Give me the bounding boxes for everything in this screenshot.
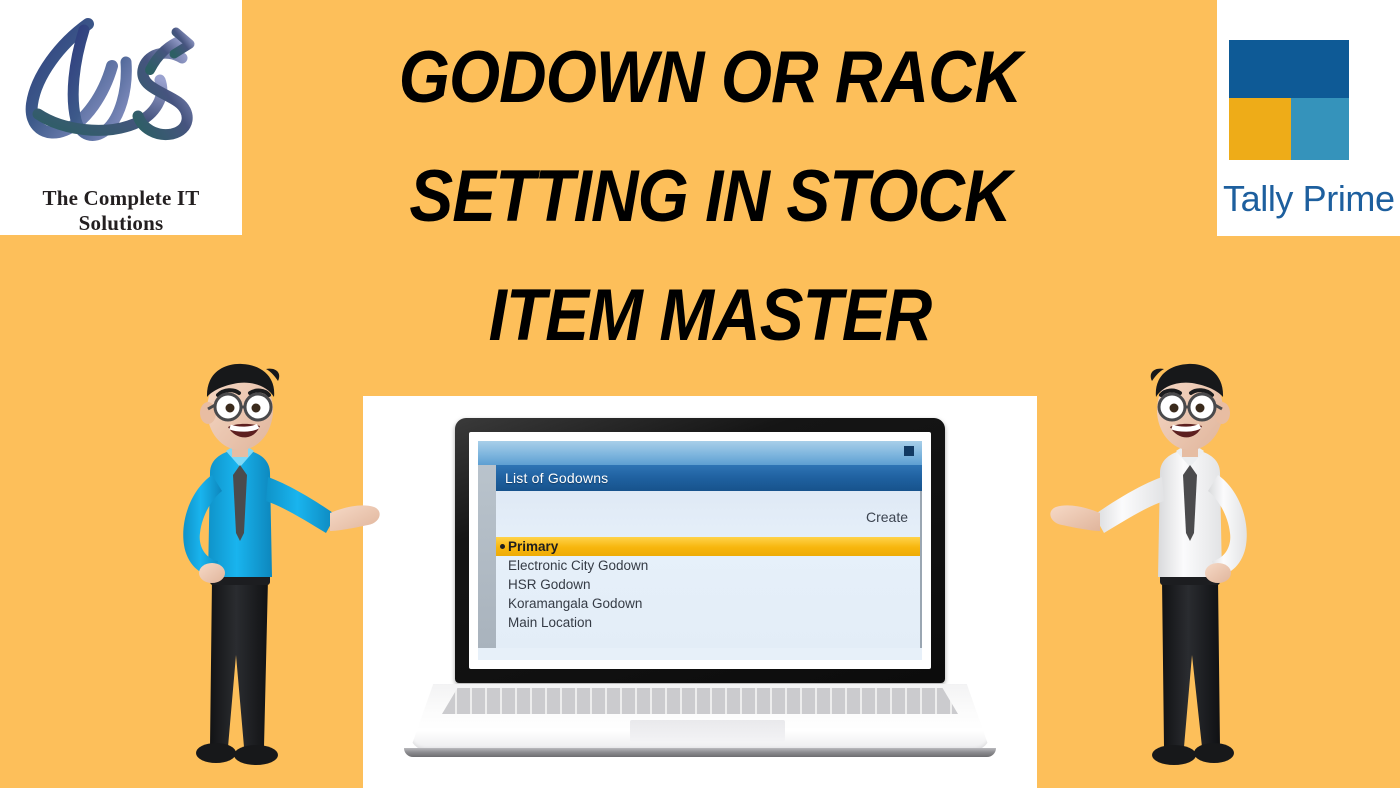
window-title-list-of-godowns: List of Godowns	[496, 465, 922, 491]
list-item[interactable]: Main Location	[496, 613, 920, 632]
laptop-illustration: List of Godowns Create Primary Electroni…	[390, 418, 1010, 788]
list-item[interactable]: Koramangala Godown	[496, 594, 920, 613]
page-title: GODOWN OR RACK SETTING IN STOCK ITEM MAS…	[296, 18, 1124, 375]
presenter-character-blue-shirt	[140, 355, 410, 788]
window-minimize-box-icon[interactable]	[904, 446, 914, 456]
tally-prime-squares-logo	[1229, 40, 1349, 160]
presenter-character-white-shirt	[1012, 355, 1292, 788]
create-button[interactable]: Create	[496, 509, 908, 525]
tally-prime-wordmark: Tally Prime	[1223, 178, 1395, 220]
laptop-base	[390, 676, 1010, 762]
laptop-lid: List of Godowns Create Primary Electroni…	[455, 418, 945, 683]
list-item[interactable]: Primary	[496, 537, 920, 556]
godown-list: Primary Electronic City Godown HSR Godow…	[496, 537, 920, 632]
tally-app-topbar	[478, 441, 922, 465]
laptop-front-lip	[404, 748, 996, 757]
tally-left-strip	[478, 465, 496, 648]
list-item[interactable]: HSR Godown	[496, 575, 920, 594]
tally-window-body: Create Primary Electronic City Godown HS…	[496, 491, 922, 648]
laptop-screen: List of Godowns Create Primary Electroni…	[478, 441, 922, 660]
brand-logo-plate-right: Tally Prime	[1217, 0, 1400, 236]
list-item[interactable]: Electronic City Godown	[496, 556, 920, 575]
laptop-keyboard	[442, 688, 958, 714]
page-title-line-3: ITEM MASTER	[296, 256, 1124, 375]
page-title-line-2: SETTING IN STOCK	[296, 137, 1124, 256]
laptop-bezel: List of Godowns Create Primary Electroni…	[469, 432, 931, 669]
laptop-trackpad	[630, 720, 785, 742]
page-title-line-1: GODOWN OR RACK	[296, 18, 1124, 137]
brand-logo-plate-left: The Complete IT Solutions	[0, 0, 242, 235]
as-monogram-logo	[0, 10, 242, 170]
brand-tagline: The Complete IT Solutions	[0, 186, 242, 235]
thumbnail-canvas: The Complete IT Solutions Tally Prime GO…	[0, 0, 1400, 788]
